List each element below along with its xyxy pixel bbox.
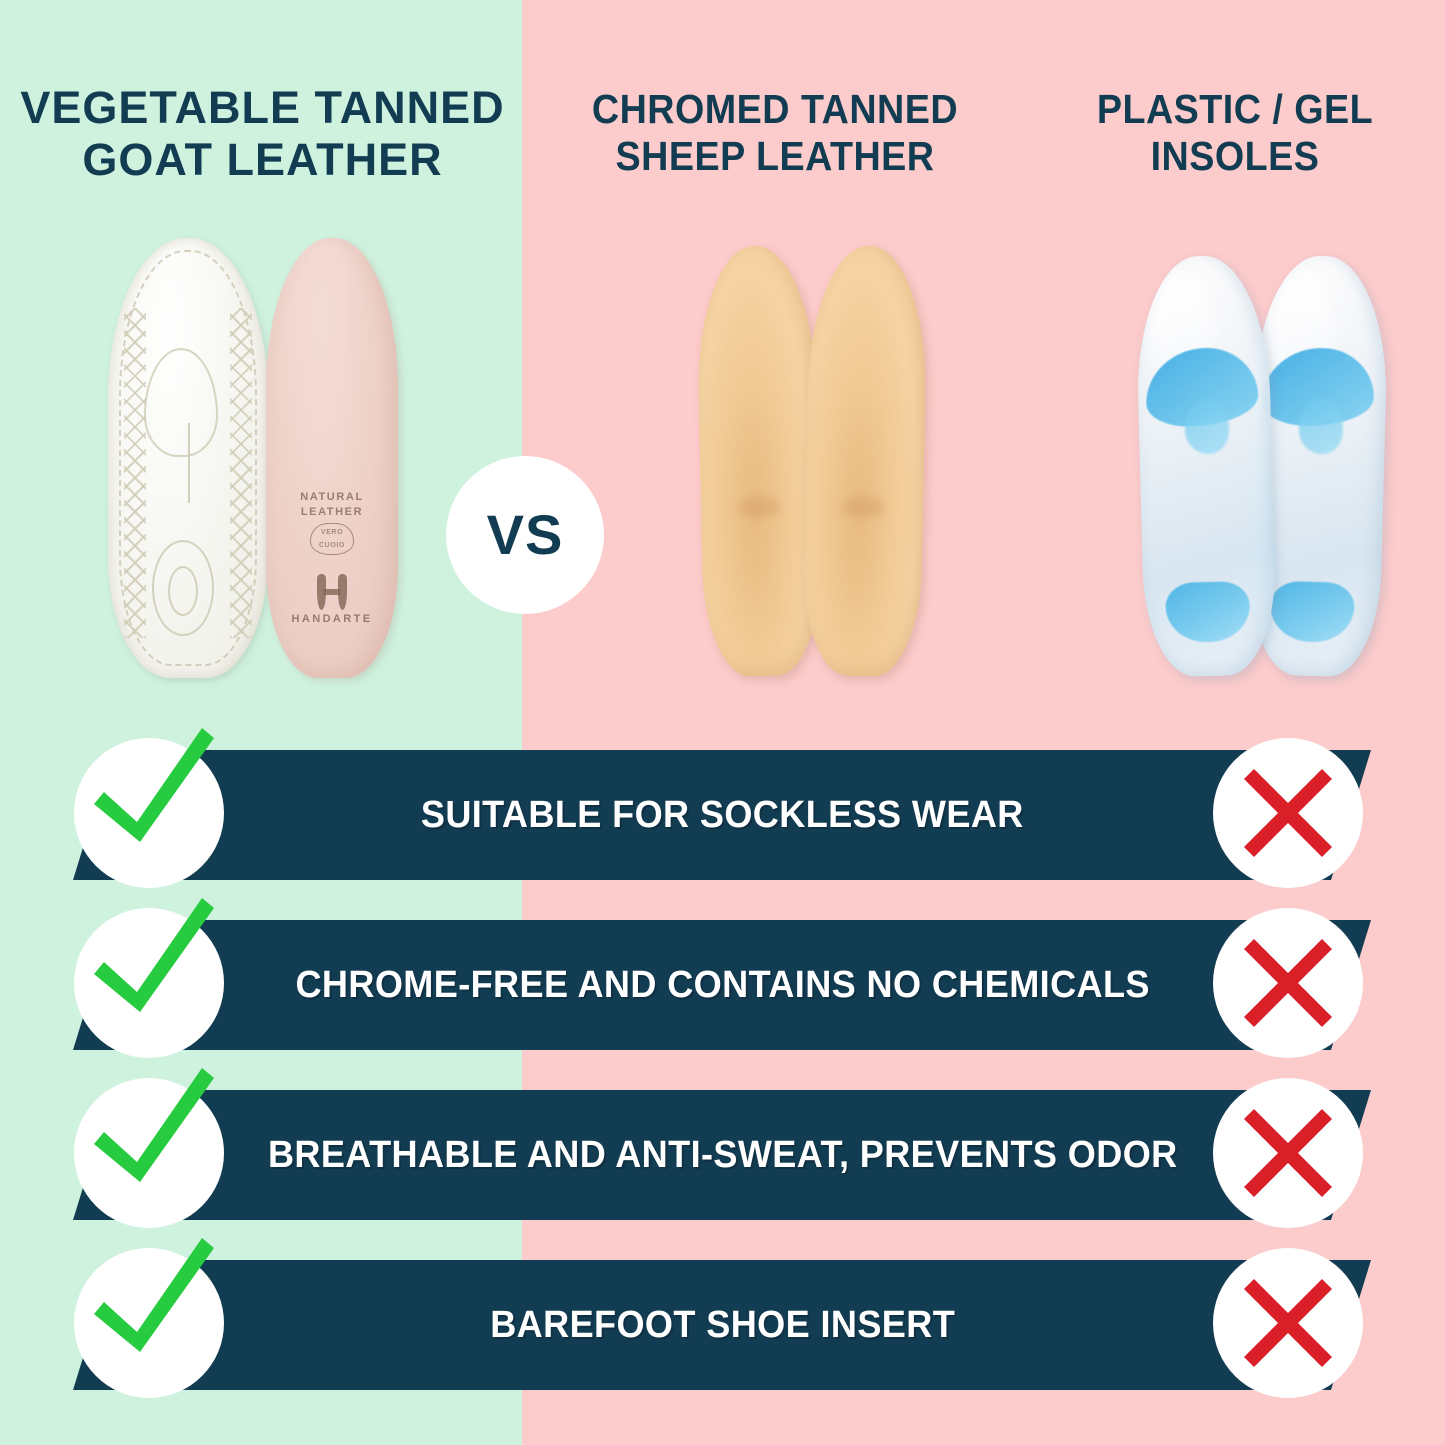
zigzag-stitch-right [230,308,252,638]
heading-line-1: CHROMED TANNED [563,86,986,133]
product-image-chromed-sheep-leather [700,238,930,688]
shield-line-2: CUOIO [311,537,353,551]
cross-icon [1240,935,1336,1031]
left-mark-circle [74,1248,224,1398]
tan-insole-left [696,245,823,677]
heading-line-2: SHEEP LEATHER [563,133,986,180]
brand-name: HANDARTE [266,613,398,625]
comparison-row: BAREFOOT SHOE INSERT [0,1248,1445,1423]
feature-label: CHROME-FREE AND CONTAINS NO CHEMICALS [295,964,1149,1007]
feature-label: BREATHABLE AND ANTI-SWEAT, PREVENTS ODOR [268,1134,1178,1177]
right-mark-circle [1213,1078,1363,1228]
feature-label: SUITABLE FOR SOCKLESS WEAR [421,794,1024,837]
comparison-row: BREATHABLE AND ANTI-SWEAT, PREVENTS ODOR [0,1078,1445,1253]
column-heading-chromed-sheep: CHROMED TANNED SHEEP LEATHER [563,86,986,180]
left-mark-circle [74,1078,224,1228]
tan-insole-right [802,245,929,677]
comparison-row: CHROME-FREE AND CONTAINS NO CHEMICALS [0,908,1445,1083]
zigzag-stitch-left [124,308,146,638]
gel-pad-heel [1269,581,1355,643]
column-heading-vegetable-goat: VEGETABLE TANNED GOAT LEATHER [10,82,515,186]
feature-label: BAREFOOT SHOE INSERT [490,1304,955,1347]
right-mark-circle [1213,738,1363,888]
leather-grain-mark [841,496,885,519]
shield-line-1: VERO [311,524,353,538]
gel-insole-left [1135,254,1278,677]
cross-icon [1240,1275,1336,1371]
handarte-monogram-icon [315,574,349,610]
stamp-line-2: LEATHER [301,506,363,518]
column-heading-plastic-gel: PLASTIC / GEL INSOLES [1056,86,1415,180]
product-image-vegetable-goat-leather: NATURAL LEATHER VERO CUOIO HANDARTE [100,238,400,688]
heading-line-2: GOAT LEATHER [10,134,515,186]
heading-line-1: VEGETABLE TANNED [10,82,515,134]
monogram-crossbar [323,589,341,595]
product-image-plastic-gel-insoles [1140,238,1400,688]
vs-badge: VS [446,456,604,614]
cross-icon [1240,1105,1336,1201]
goat-leather-lasting-insole [108,238,268,678]
comparison-row: SUITABLE FOR SOCKLESS WEAR [0,738,1445,913]
natural-leather-insole: NATURAL LEATHER VERO CUOIO HANDARTE [266,238,398,678]
vero-cuoio-shield-icon: VERO CUOIO [310,523,354,555]
heading-line-1: PLASTIC / GEL [1056,86,1415,133]
brand-mark: HANDARTE [266,574,398,625]
gel-pad-heel [1165,581,1251,643]
stamp-line-1: NATURAL [300,491,364,503]
vs-label: VS [487,507,564,563]
leather-grain-mark [737,496,781,519]
right-mark-circle [1213,908,1363,1058]
center-seam [188,423,190,503]
left-mark-circle [74,908,224,1058]
insole-comparison-infographic: VEGETABLE TANNED GOAT LEATHER CHROMED TA… [0,0,1445,1445]
right-mark-circle [1213,1248,1363,1398]
heading-line-2: INSOLES [1056,133,1415,180]
left-mark-circle [74,738,224,888]
leather-stamp: NATURAL LEATHER VERO CUOIO [266,490,398,555]
heel-emboss-inner [168,566,198,616]
cross-icon [1240,765,1336,861]
